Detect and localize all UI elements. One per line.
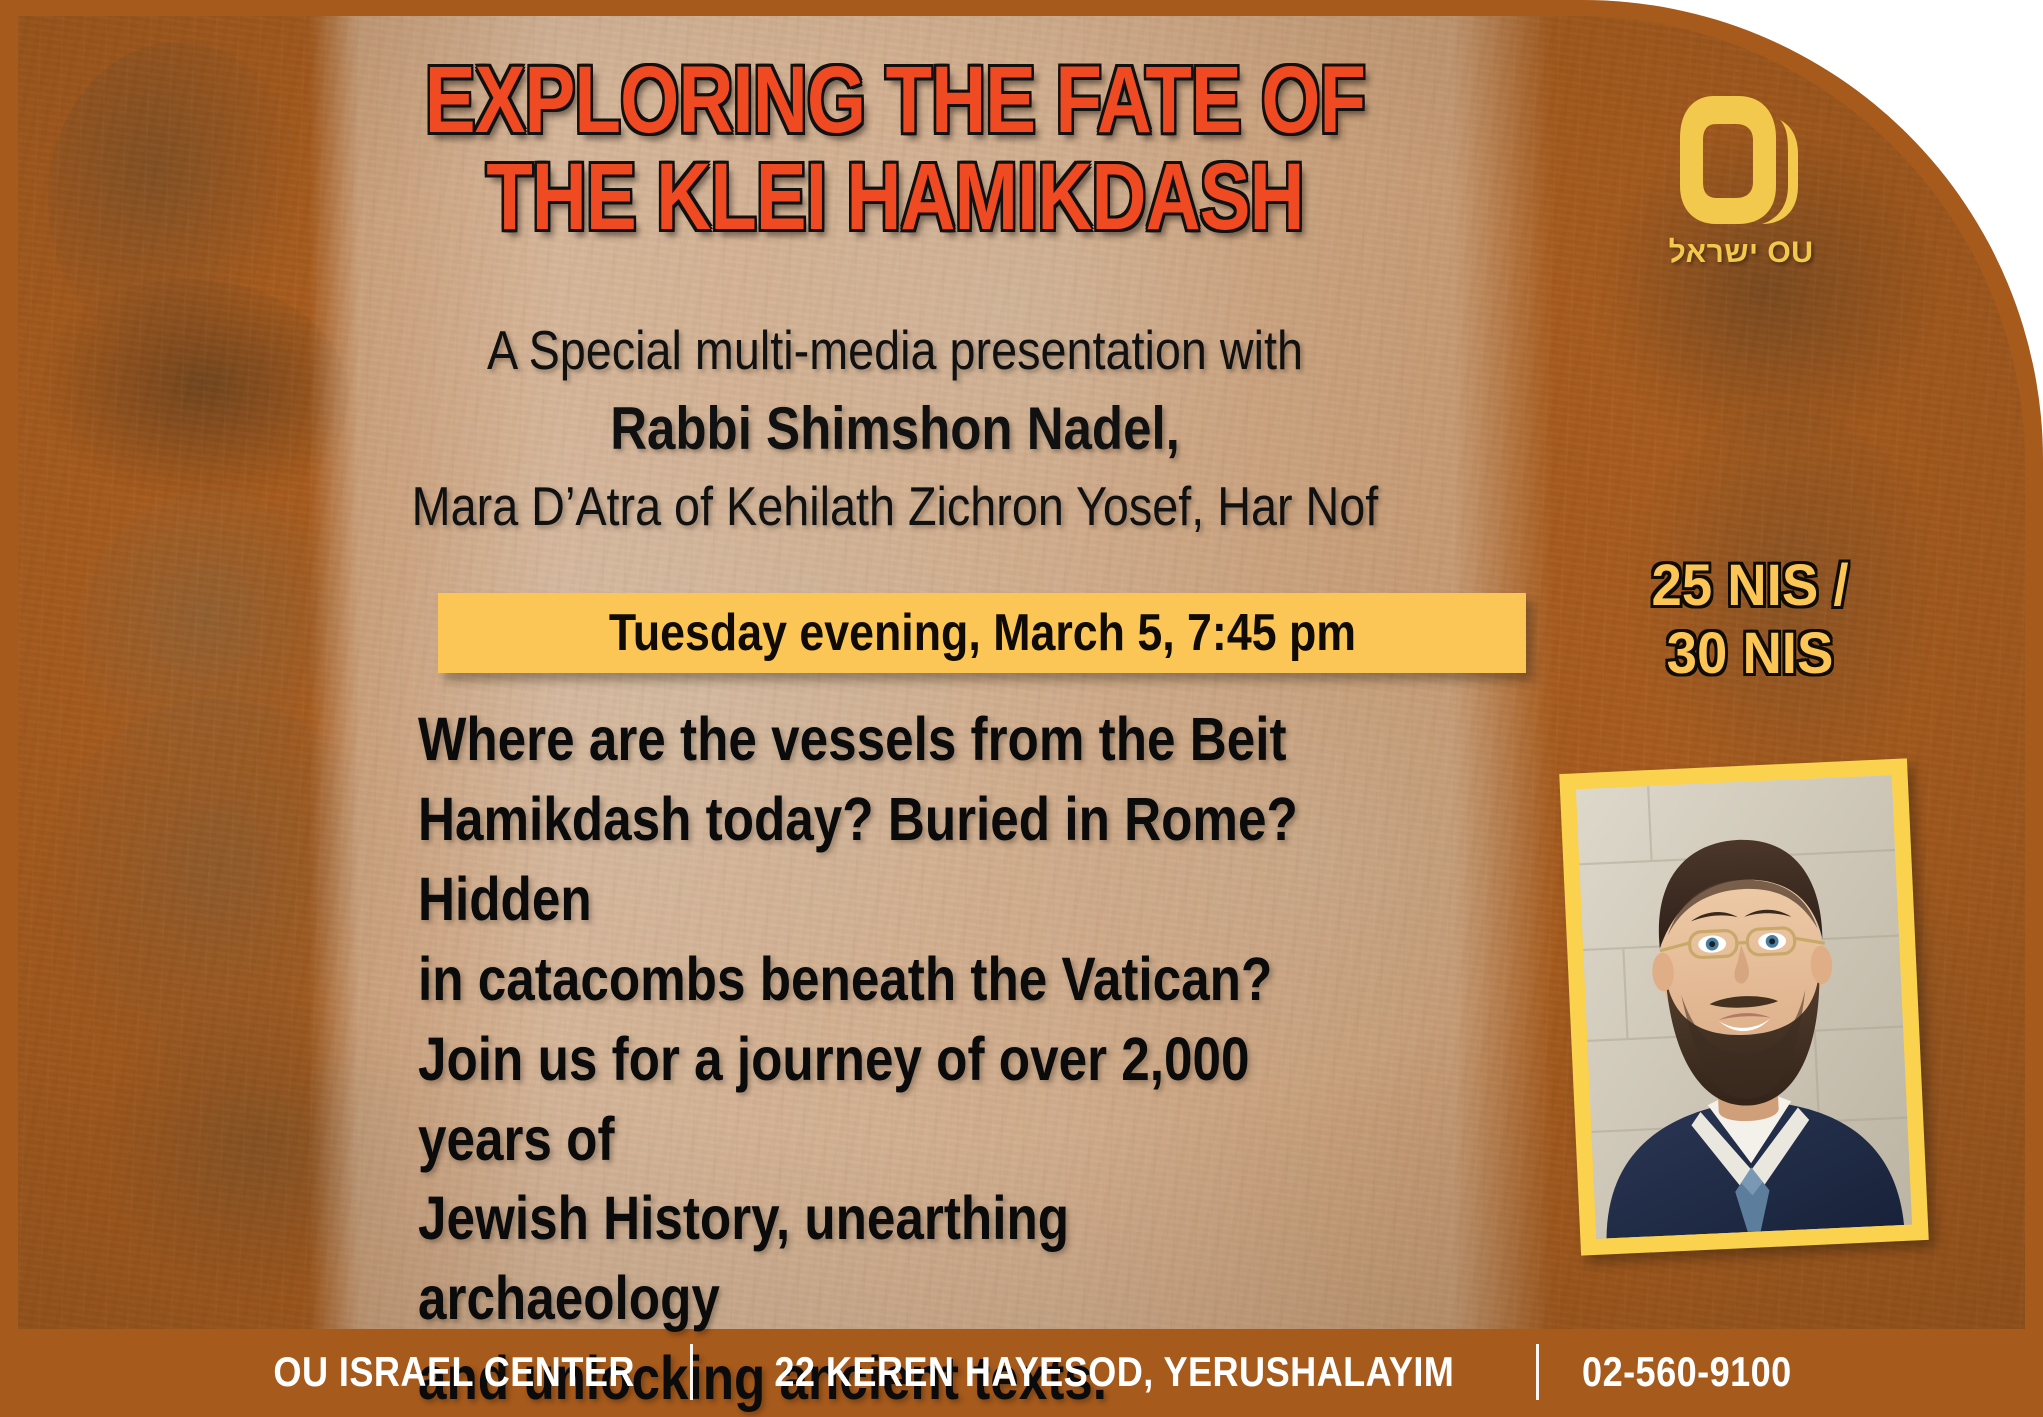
footer-phone: 02-560-9100	[1582, 1348, 1792, 1396]
description-line-2: Hamikdash today? Buried in Rome? Hidden	[418, 780, 1384, 940]
speaker-name: Rabbi Shimshon Nadel,	[389, 394, 1401, 463]
poster-content: EXPLORING THE FATE OF THE KLEI HAMIKDASH…	[0, 0, 2043, 1417]
speaker-photo	[1576, 775, 1912, 1239]
footer-divider-2	[1536, 1344, 1539, 1400]
description-line-1: Where are the vessels from the Beit	[418, 700, 1384, 780]
poster-title: EXPLORING THE FATE OF THE KLEI HAMIKDASH	[419, 52, 1371, 246]
poster-description: Where are the vessels from the Beit Hami…	[418, 700, 1384, 1417]
price-label: 25 NIS / 30 NIS	[1618, 552, 1881, 689]
price-line-1: 25 NIS /	[1618, 552, 1881, 620]
footer-org: OU ISRAEL CENTER	[274, 1348, 635, 1396]
description-line-5: Jewish History, unearthing archaeology	[418, 1179, 1384, 1339]
footer-address: 22 KEREN HAYESOD, YERUSHALAYIM	[775, 1348, 1455, 1396]
subtitle-presentation: A Special multi-media presentation with	[389, 318, 1401, 382]
title-line-1: EXPLORING THE FATE OF	[419, 52, 1371, 149]
description-line-3: in catacombs beneath the Vatican?	[418, 940, 1384, 1020]
footer-divider-1	[690, 1344, 693, 1400]
description-line-4: Join us for a journey of over 2,000 year…	[418, 1020, 1384, 1180]
event-date-text: Tuesday evening, March 5, 7:45 pm	[608, 603, 1355, 663]
ou-monogram-icon	[1676, 90, 1806, 230]
event-date-banner: Tuesday evening, March 5, 7:45 pm	[438, 593, 1526, 673]
ou-wordmark: OU ישראל	[1636, 236, 1846, 270]
speaker-portrait-illustration	[1576, 775, 1912, 1239]
speaker-photo-frame	[1559, 758, 1929, 1255]
speaker-title: Mara D’Atra of Kehilath Zichron Yosef, H…	[389, 474, 1401, 538]
price-line-2: 30 NIS	[1618, 620, 1881, 688]
poster-footer: OU ISRAEL CENTER 22 KEREN HAYESOD, YERUS…	[0, 1327, 2043, 1417]
title-line-2: THE KLEI HAMIKDASH	[419, 149, 1371, 246]
ou-israel-logo: OU ישראל	[1636, 90, 1846, 270]
poster-flyer: EXPLORING THE FATE OF THE KLEI HAMIKDASH…	[0, 0, 2043, 1417]
